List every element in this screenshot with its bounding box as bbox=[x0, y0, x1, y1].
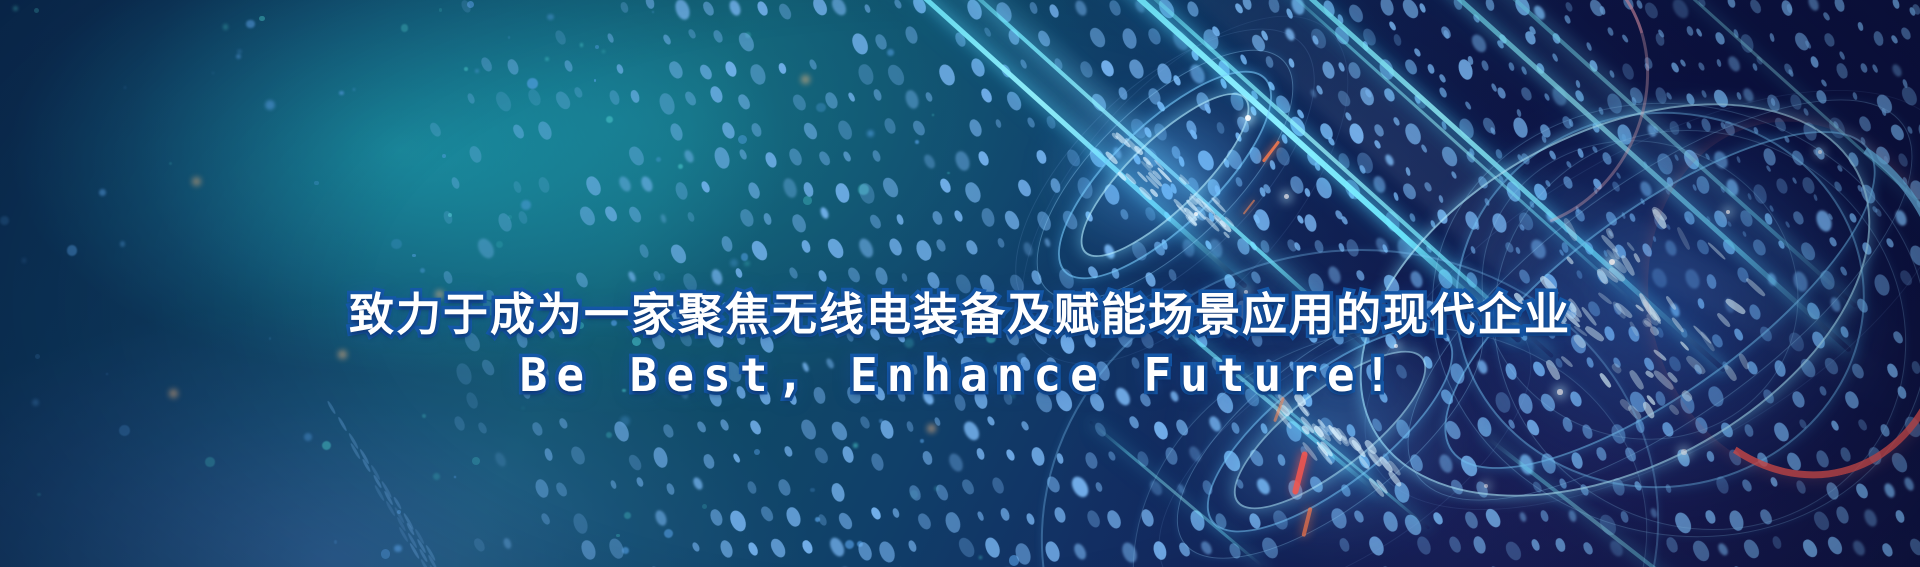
dash-particle bbox=[829, 0, 849, 18]
dash-particle bbox=[1470, 246, 1476, 255]
dash-particle bbox=[1176, 484, 1185, 495]
dash-particle bbox=[1654, 151, 1675, 176]
bokeh-dot bbox=[887, 49, 894, 56]
dash-particle bbox=[1665, 177, 1673, 188]
dash-particle bbox=[1089, 91, 1109, 114]
dash-particle bbox=[1392, 480, 1411, 504]
dash-particle bbox=[1055, 452, 1064, 464]
dash-particle bbox=[827, 535, 847, 558]
dash-particle bbox=[1890, 63, 1903, 78]
dash-particle bbox=[1402, 121, 1423, 146]
dash-particle bbox=[1825, 534, 1845, 557]
bokeh-dot bbox=[322, 441, 331, 450]
dash-particle bbox=[1467, 56, 1474, 66]
dash-particle bbox=[1828, 213, 1834, 221]
data-tick bbox=[1104, 150, 1118, 165]
dash-particle bbox=[983, 26, 992, 37]
dash-particle bbox=[856, 62, 876, 87]
dash-particle bbox=[1377, 58, 1396, 82]
dash-particle bbox=[1289, 0, 1306, 16]
dash-particle bbox=[1802, 107, 1809, 116]
dash-particle bbox=[1732, 28, 1739, 37]
dash-particle bbox=[768, 536, 788, 559]
dash-particle bbox=[1340, 216, 1348, 226]
dash-particle bbox=[1813, 193, 1818, 201]
data-tick bbox=[1339, 434, 1349, 445]
dash-particle bbox=[1517, 268, 1532, 285]
dash-particle bbox=[662, 33, 673, 46]
dash-particle bbox=[1472, 13, 1481, 23]
bokeh-dot bbox=[545, 57, 549, 61]
dash-particle bbox=[1382, 244, 1389, 254]
dash-particle bbox=[373, 474, 383, 488]
dash-particle bbox=[695, 420, 707, 433]
dash-particle bbox=[755, 0, 769, 17]
data-tick bbox=[1562, 217, 1580, 243]
dash-particle bbox=[1801, 121, 1819, 143]
dash-particle bbox=[759, 505, 775, 523]
dash-particle bbox=[533, 478, 550, 500]
dash-particle bbox=[1539, 509, 1550, 523]
dash-particle bbox=[1851, 539, 1868, 558]
data-tick bbox=[1117, 171, 1127, 181]
dash-particle bbox=[1208, 212, 1216, 223]
data-tick bbox=[1707, 241, 1726, 260]
data-tick bbox=[1316, 445, 1333, 465]
dash-particle bbox=[1668, 120, 1681, 136]
dash-particle bbox=[1791, 210, 1805, 227]
dash-particle-field bbox=[0, 0, 1920, 567]
dash-particle bbox=[1498, 33, 1508, 44]
bokeh-dot bbox=[467, 1, 475, 9]
dash-particle bbox=[1378, 0, 1395, 17]
dash-particle bbox=[1156, 100, 1166, 112]
dash-particle bbox=[1502, 540, 1523, 564]
dash-particle bbox=[1550, 84, 1569, 107]
data-tick bbox=[1363, 438, 1378, 455]
dash-particle bbox=[1525, 418, 1542, 438]
dash-particle bbox=[1860, 63, 1869, 75]
bokeh-dot bbox=[624, 512, 631, 519]
bokeh-dot bbox=[879, 419, 882, 422]
dash-particle bbox=[1329, 506, 1349, 531]
dash-particle bbox=[1552, 52, 1560, 62]
dash-particle bbox=[466, 92, 476, 104]
dash-particle bbox=[953, 209, 965, 223]
dash-particle bbox=[747, 541, 760, 557]
bokeh-dot bbox=[454, 476, 456, 478]
dash-particle bbox=[1586, 42, 1593, 52]
bokeh-dot bbox=[810, 488, 815, 493]
dash-particle bbox=[1418, 3, 1426, 14]
dash-particle bbox=[1107, 450, 1117, 462]
data-tick bbox=[1310, 423, 1326, 441]
dash-particle bbox=[1026, 117, 1036, 129]
dash-particle bbox=[1623, 446, 1638, 463]
dash-particle bbox=[1902, 476, 1915, 492]
dash-particle bbox=[1083, 450, 1099, 470]
dash-particle bbox=[1885, 237, 1895, 248]
dash-particle bbox=[1119, 540, 1139, 564]
dash-particle bbox=[493, 451, 508, 468]
dash-particle bbox=[1606, 26, 1614, 36]
dash-particle bbox=[1563, 14, 1571, 24]
dash-particle bbox=[1227, 541, 1242, 559]
dash-particle bbox=[1393, 192, 1400, 201]
dash-particle bbox=[571, 511, 590, 535]
dash-particle bbox=[735, 268, 744, 280]
dash-particle bbox=[1235, 236, 1252, 256]
dash-particle bbox=[1414, 94, 1422, 104]
dash-particle bbox=[1252, 213, 1261, 224]
dash-particle bbox=[1213, 512, 1228, 531]
dash-particle bbox=[531, 421, 545, 438]
dash-particle bbox=[1193, 205, 1209, 223]
dash-particle bbox=[1259, 535, 1281, 560]
bokeh-dot bbox=[815, 517, 820, 522]
dash-particle bbox=[1303, 188, 1310, 198]
data-tick bbox=[1366, 448, 1384, 468]
hero-banner: 致力于成为一家聚焦无线电装备及赋能场景应用的现代企业 Be Best, Enha… bbox=[0, 0, 1920, 567]
dash-particle bbox=[1293, 241, 1301, 251]
dash-particle bbox=[1053, 57, 1064, 71]
data-tick bbox=[1175, 204, 1188, 218]
bokeh-dot bbox=[67, 245, 77, 255]
dash-particle bbox=[720, 120, 737, 140]
data-tick bbox=[1325, 425, 1342, 445]
dash-particle bbox=[1425, 245, 1433, 254]
dash-particle bbox=[1871, 63, 1879, 73]
dash-particle bbox=[1464, 100, 1472, 109]
dash-particle bbox=[1476, 175, 1489, 190]
dash-particle bbox=[1756, 451, 1771, 469]
bokeh-dot bbox=[522, 407, 524, 409]
data-tick bbox=[1368, 453, 1380, 468]
dash-particle bbox=[1519, 86, 1533, 103]
dash-particle bbox=[1727, 508, 1746, 532]
dash-particle bbox=[856, 236, 875, 259]
bokeh-dot bbox=[223, 24, 228, 29]
data-tick bbox=[1172, 198, 1187, 213]
dash-particle bbox=[1348, 190, 1355, 200]
dash-particle bbox=[1873, 93, 1894, 117]
dash-particle bbox=[936, 62, 957, 87]
dash-particle bbox=[1597, 512, 1619, 538]
dash-particle bbox=[967, 117, 984, 137]
dash-particle bbox=[409, 542, 420, 559]
dash-particle bbox=[619, 1, 629, 14]
bokeh-dot bbox=[99, 189, 107, 197]
dash-particle bbox=[1528, 26, 1536, 36]
bokeh-dot bbox=[496, 241, 503, 248]
dash-particle bbox=[1652, 125, 1659, 133]
dash-particle bbox=[1311, 35, 1320, 46]
dash-particle bbox=[1439, 144, 1460, 168]
dash-particle bbox=[1664, 535, 1679, 553]
dash-particle bbox=[776, 478, 792, 498]
dash-particle bbox=[1603, 249, 1608, 256]
dash-particle bbox=[910, 0, 928, 15]
dash-particle bbox=[1285, 8, 1294, 20]
dash-particle bbox=[982, 535, 1002, 559]
dash-particle bbox=[1642, 0, 1660, 20]
dash-particle bbox=[1151, 540, 1168, 562]
dash-particle bbox=[1784, 450, 1804, 472]
dash-particle bbox=[629, 89, 640, 103]
bokeh-dot bbox=[754, 449, 760, 455]
dash-particle bbox=[1601, 151, 1613, 166]
dash-particle bbox=[1401, 181, 1419, 201]
dash-particle bbox=[961, 420, 982, 443]
dash-particle bbox=[1558, 248, 1564, 256]
dash-particle bbox=[1437, 453, 1455, 475]
data-tick bbox=[1189, 192, 1204, 208]
data-tick bbox=[1626, 404, 1642, 421]
dash-particle bbox=[1738, 209, 1755, 229]
dash-particle bbox=[1112, 146, 1124, 160]
data-tick bbox=[1301, 424, 1311, 435]
dash-particle bbox=[1588, 0, 1606, 18]
dash-particle bbox=[1517, 210, 1536, 232]
dash-particle bbox=[1155, 0, 1176, 20]
dash-particle bbox=[1665, 483, 1673, 494]
dash-particle bbox=[1538, 123, 1552, 140]
bokeh-dot bbox=[730, 259, 738, 267]
dash-particle bbox=[1483, 197, 1490, 206]
dash-particle bbox=[1771, 420, 1791, 444]
data-tick bbox=[1633, 253, 1641, 264]
dash-particle bbox=[1697, 62, 1706, 73]
data-tick bbox=[1224, 216, 1235, 228]
dash-particle bbox=[626, 452, 643, 472]
dash-particle bbox=[1894, 509, 1906, 524]
dash-particle bbox=[975, 447, 985, 460]
data-tick bbox=[1600, 233, 1620, 254]
dash-particle bbox=[1102, 182, 1122, 207]
dash-particle bbox=[1204, 239, 1213, 250]
dash-particle bbox=[1518, 512, 1527, 524]
dash-particle bbox=[698, 62, 715, 81]
dash-particle bbox=[1561, 241, 1570, 253]
dash-particle bbox=[1576, 148, 1584, 159]
dash-particle bbox=[1337, 62, 1345, 73]
dash-particle bbox=[1640, 198, 1646, 205]
dash-particle bbox=[1489, 212, 1508, 235]
dash-particle bbox=[577, 204, 598, 228]
dash-particle bbox=[1901, 79, 1908, 88]
dash-particle bbox=[1087, 25, 1108, 50]
dash-particle bbox=[1373, 139, 1381, 149]
dash-particle bbox=[812, 446, 830, 466]
dash-particle bbox=[1736, 156, 1742, 164]
dash-particle bbox=[1721, 238, 1737, 257]
dash-particle bbox=[1873, 144, 1892, 166]
dash-particle bbox=[896, 213, 905, 225]
data-tick bbox=[1142, 156, 1152, 166]
dash-particle bbox=[1181, 238, 1197, 258]
bokeh-dot bbox=[656, 157, 661, 162]
dash-particle bbox=[1262, 184, 1272, 195]
bokeh-dot bbox=[521, 200, 531, 210]
dash-particle bbox=[1043, 539, 1062, 563]
dash-particle bbox=[824, 236, 845, 260]
dash-particle bbox=[617, 174, 633, 193]
dash-particle bbox=[1575, 269, 1583, 280]
dash-particle bbox=[1726, 220, 1732, 227]
dash-particle bbox=[1706, 450, 1716, 463]
bokeh-dot bbox=[259, 16, 264, 21]
dash-particle bbox=[1163, 210, 1173, 222]
dash-particle bbox=[1370, 417, 1383, 433]
dash-particle bbox=[1813, 208, 1834, 233]
dash-particle bbox=[1133, 0, 1146, 14]
bokeh-dot bbox=[527, 78, 538, 89]
dash-particle bbox=[1438, 86, 1448, 98]
dash-particle bbox=[1838, 446, 1852, 463]
dash-particle bbox=[1619, 510, 1629, 523]
dash-particle bbox=[1531, 480, 1544, 494]
dash-particle bbox=[1523, 29, 1537, 45]
dash-particle bbox=[1899, 84, 1920, 108]
dash-particle bbox=[512, 180, 523, 194]
dash-particle bbox=[1857, 22, 1864, 32]
dash-particle bbox=[720, 235, 734, 253]
dash-particle bbox=[1346, 60, 1362, 80]
dash-particle bbox=[644, 0, 655, 9]
dash-particle bbox=[442, 210, 453, 225]
dash-particle bbox=[712, 146, 731, 171]
dash-particle bbox=[1790, 148, 1806, 167]
dash-particle bbox=[1837, 165, 1844, 173]
dash-particle bbox=[1288, 174, 1306, 195]
dash-particle bbox=[947, 451, 966, 473]
dash-particle bbox=[1239, 53, 1248, 65]
dash-particle bbox=[1471, 535, 1487, 555]
dash-particle bbox=[1142, 147, 1160, 169]
dash-particle bbox=[1453, 0, 1464, 10]
dash-particle bbox=[1611, 181, 1622, 194]
dash-particle bbox=[1413, 92, 1428, 109]
dash-particle bbox=[691, 476, 704, 491]
dash-particle bbox=[442, 270, 453, 285]
dash-particle bbox=[668, 243, 689, 266]
dash-particle bbox=[573, 86, 584, 99]
dash-particle bbox=[1465, 150, 1476, 164]
dash-particle bbox=[1712, 149, 1730, 170]
dash-particle bbox=[1315, 84, 1324, 95]
dash-particle bbox=[1273, 93, 1292, 115]
dash-particle bbox=[1503, 241, 1514, 254]
dash-particle bbox=[1313, 162, 1321, 172]
dash-particle bbox=[1541, 135, 1547, 144]
dash-particle bbox=[1620, 62, 1636, 81]
dash-particle bbox=[1002, 208, 1022, 231]
dash-particle bbox=[885, 62, 908, 88]
dash-particle bbox=[612, 419, 632, 443]
dash-particle bbox=[416, 538, 426, 553]
dash-particle bbox=[1287, 114, 1308, 138]
dash-particle bbox=[1832, 120, 1839, 129]
dash-particle bbox=[1025, 512, 1036, 526]
dash-particle bbox=[886, 236, 903, 257]
dash-particle bbox=[1178, 155, 1186, 167]
dash-particle bbox=[1866, 445, 1883, 466]
dash-particle bbox=[817, 513, 828, 527]
dash-particle bbox=[808, 58, 818, 70]
dash-particle bbox=[1392, 33, 1402, 47]
dash-particle bbox=[1043, 237, 1051, 248]
dash-particle bbox=[1371, 175, 1387, 195]
dash-particle bbox=[1795, 479, 1808, 495]
dash-particle bbox=[668, 122, 685, 143]
dash-particle bbox=[1641, 242, 1654, 258]
cyan-beam-field bbox=[0, 0, 1920, 567]
dash-particle bbox=[1186, 175, 1201, 193]
dash-particle bbox=[1893, 209, 1908, 227]
dash-particle bbox=[1712, 208, 1730, 229]
data-tick bbox=[1595, 267, 1610, 285]
dash-particle bbox=[1214, 184, 1222, 195]
dash-particle bbox=[1207, 414, 1223, 432]
dash-particle bbox=[626, 144, 646, 168]
dash-particle bbox=[1085, 508, 1102, 528]
bokeh-dot bbox=[339, 91, 344, 96]
dash-particle bbox=[1188, 129, 1198, 141]
dash-particle bbox=[1763, 212, 1773, 225]
dash-particle bbox=[1392, 116, 1400, 126]
dash-particle bbox=[736, 30, 757, 54]
dash-particle bbox=[979, 87, 994, 104]
dash-particle bbox=[1700, 117, 1713, 133]
dash-particle bbox=[791, 92, 809, 112]
bokeh-dot bbox=[472, 457, 480, 465]
dash-particle bbox=[1653, 236, 1657, 243]
dash-particle bbox=[348, 432, 360, 449]
dash-particle bbox=[1665, 91, 1672, 100]
dash-particle bbox=[817, 269, 828, 282]
dash-particle bbox=[873, 32, 888, 50]
cyan-light-beam bbox=[1529, 0, 1920, 281]
dash-particle bbox=[1129, 239, 1150, 263]
dash-particle bbox=[943, 510, 962, 534]
data-tick bbox=[1316, 441, 1330, 457]
dash-particle bbox=[1313, 239, 1325, 254]
dash-particle bbox=[1361, 26, 1379, 47]
dash-particle bbox=[1714, 474, 1731, 495]
dash-particle bbox=[1483, 506, 1504, 529]
dash-particle bbox=[674, 180, 690, 200]
dash-particle bbox=[712, 29, 724, 44]
bokeh-dot bbox=[422, 414, 426, 418]
dash-particle bbox=[1381, 509, 1401, 533]
dash-particle bbox=[1016, 178, 1034, 199]
dash-particle bbox=[1916, 122, 1920, 140]
dash-particle bbox=[683, 90, 698, 107]
dash-particle bbox=[578, 538, 597, 561]
bokeh-dot bbox=[702, 504, 707, 509]
dash-particle bbox=[1751, 183, 1769, 205]
dash-particle bbox=[1167, 268, 1178, 281]
bokeh-dot bbox=[439, 8, 443, 12]
dash-particle bbox=[1234, 131, 1243, 142]
dash-particle bbox=[1317, 415, 1336, 438]
dash-particle bbox=[1633, 480, 1643, 492]
dash-particle bbox=[1529, 201, 1535, 209]
dash-particle bbox=[1034, 209, 1053, 232]
dash-particle bbox=[1143, 205, 1157, 222]
dash-particle bbox=[1907, 243, 1920, 267]
dash-particle bbox=[1812, 149, 1819, 157]
